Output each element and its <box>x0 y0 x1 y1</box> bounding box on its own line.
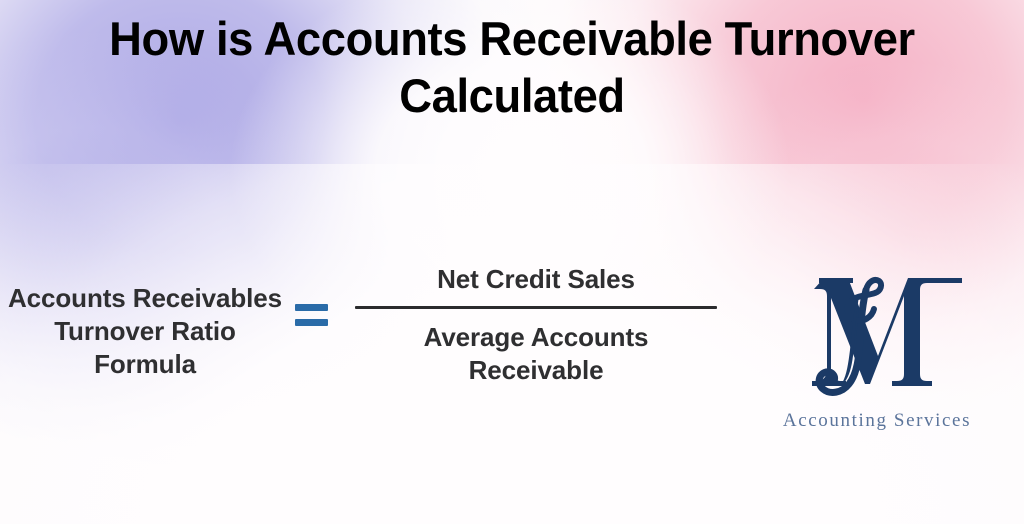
formula-label-line-2: Turnover Ratio <box>0 315 290 348</box>
equals-icon-bar-bottom <box>295 319 328 326</box>
company-logo: Accounting Services <box>762 262 992 452</box>
infographic-canvas: How is Accounts Receivable Turnover Calc… <box>0 0 1024 524</box>
formula-label-line-3: Formula <box>0 348 290 381</box>
fraction-denominator: Average Accounts Receivable <box>345 309 727 387</box>
formula-label-line-1: Accounts Receivables <box>0 282 290 315</box>
jm-monogram-icon <box>762 262 992 412</box>
fraction: Net Credit Sales Average Accounts Receiv… <box>345 262 727 387</box>
equals-icon <box>291 304 331 330</box>
equals-icon-bar-top <box>295 304 328 311</box>
fraction-numerator: Net Credit Sales <box>345 262 727 306</box>
fraction-denominator-line-2: Receivable <box>345 354 727 387</box>
logo-caption: Accounting Services <box>762 410 992 432</box>
page-title-line-1: How is Accounts Receivable Turnover <box>18 10 1006 67</box>
fraction-denominator-line-1: Average Accounts <box>345 321 727 354</box>
formula-label: Accounts Receivables Turnover Ratio Form… <box>0 282 290 381</box>
page-title-line-2: Calculated <box>18 67 1006 124</box>
page-title: How is Accounts Receivable Turnover Calc… <box>0 10 1024 124</box>
